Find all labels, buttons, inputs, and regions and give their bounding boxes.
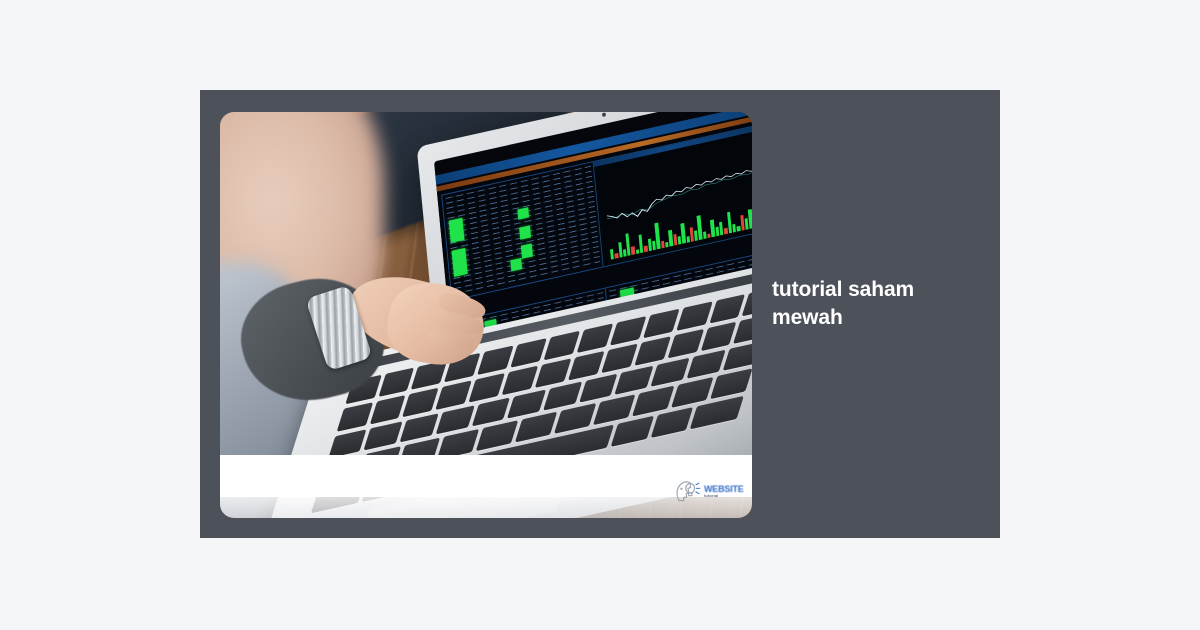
- highlight-cell: [519, 225, 531, 239]
- webcam-icon: [602, 112, 606, 117]
- watermark-subword: tutorial: [704, 494, 744, 498]
- watermark-wordmark: WEBSITE tutorial: [704, 485, 744, 498]
- article-thumbnail[interactable]: WEBSITE tutorial: [220, 112, 752, 518]
- stock-trading-photo: WEBSITE tutorial: [220, 112, 752, 518]
- photo-footer-fade: [220, 497, 752, 518]
- highlight-cell: [521, 243, 533, 258]
- share-preview-card: WEBSITE tutorial tutorial saham mewah: [200, 90, 1000, 538]
- highlight-cell: [510, 258, 522, 271]
- highlight-cell: [452, 248, 468, 277]
- head-lightbulb-icon: [674, 477, 702, 505]
- highlight-cell: [449, 218, 465, 243]
- watermark-logo: WEBSITE tutorial: [674, 475, 750, 507]
- white-overlay-band: [220, 455, 752, 497]
- page-title: tutorial saham mewah: [772, 276, 972, 332]
